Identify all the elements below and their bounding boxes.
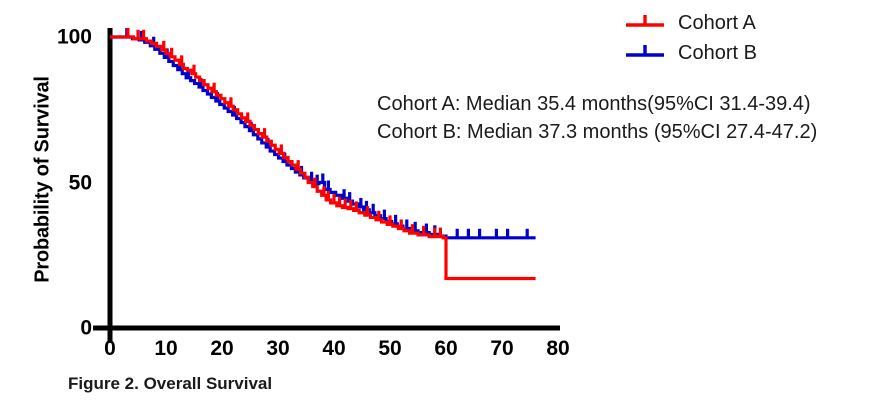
y-tick-label: 0 xyxy=(40,318,92,339)
annotation-line-cohort-a: Cohort A: Median 35.4 months(95%CI 31.4-… xyxy=(377,90,817,118)
y-tick-label: 100 xyxy=(40,27,92,48)
axis-spines xyxy=(110,28,560,328)
x-tick-label: 20 xyxy=(210,338,233,359)
y-tick-label: 50 xyxy=(40,172,92,193)
median-survival-annotation: Cohort A: Median 35.4 months(95%CI 31.4-… xyxy=(377,90,817,146)
censor-mark-icon xyxy=(624,41,666,65)
legend: Cohort A Cohort B xyxy=(624,8,757,68)
legend-item-cohort-a: Cohort A xyxy=(624,8,757,38)
kaplan-meier-curves xyxy=(110,37,558,328)
x-tick-label: 60 xyxy=(434,338,457,359)
x-tick-label: 0 xyxy=(104,338,116,359)
x-tick-label: 40 xyxy=(322,338,345,359)
legend-label-cohort-b: Cohort B xyxy=(678,42,757,65)
plot-area xyxy=(110,37,558,328)
censor-mark-icon xyxy=(624,11,666,35)
figure-caption: Figure 2. Overall Survival xyxy=(68,374,272,394)
x-tick-label: 70 xyxy=(490,338,513,359)
legend-label-cohort-a: Cohort A xyxy=(678,12,756,35)
legend-item-cohort-b: Cohort B xyxy=(624,38,757,68)
x-tick-label: 30 xyxy=(266,338,289,359)
annotation-line-cohort-b: Cohort B: Median 37.3 months (95%CI 27.4… xyxy=(377,118,817,146)
x-tick-label: 10 xyxy=(154,338,177,359)
survival-figure: Probability of Survival 050100 010203040… xyxy=(0,0,886,406)
x-tick-label: 50 xyxy=(378,338,401,359)
x-tick-label: 80 xyxy=(546,338,569,359)
